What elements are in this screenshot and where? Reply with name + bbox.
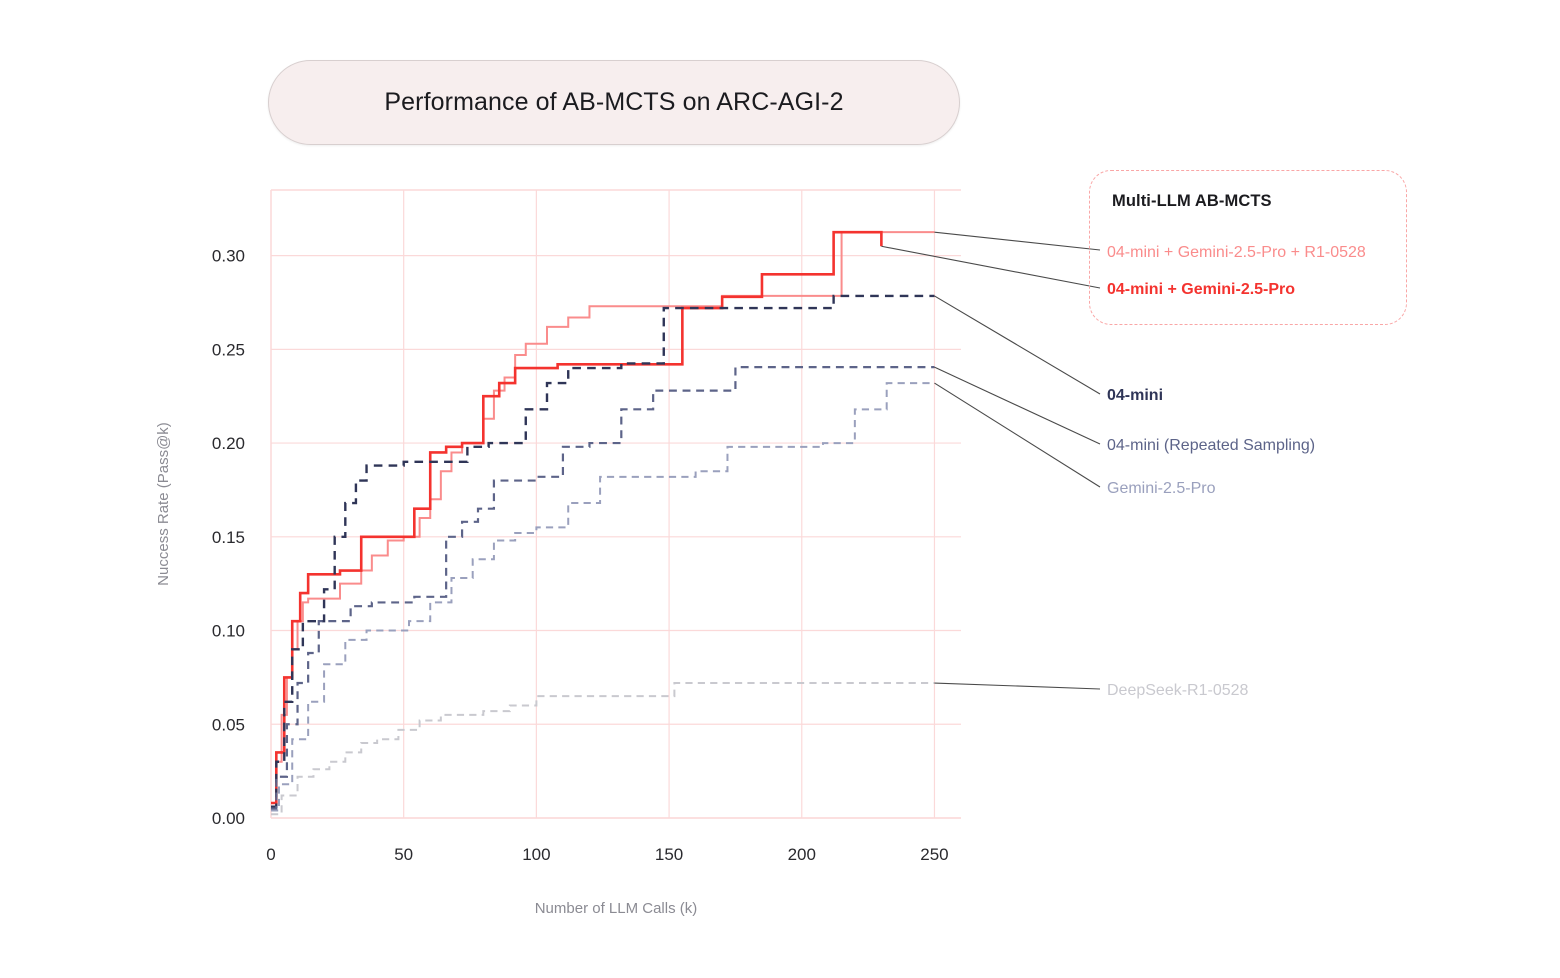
x-tick-label: 50: [394, 845, 413, 864]
x-tick-label: 100: [522, 845, 550, 864]
x-tick-label: 0: [266, 845, 275, 864]
x-tick-label: 250: [920, 845, 948, 864]
y-tick-label: 0.20: [212, 434, 245, 453]
chart-svg: 0.000.050.100.150.200.250.30050100150200…: [0, 0, 1560, 978]
leader-lines: [881, 232, 1100, 689]
y-tick-label: 0.00: [212, 809, 245, 828]
chart-canvas: Performance of AB-MCTS on ARC-AGI-2 0.00…: [0, 0, 1560, 978]
legend-header: Multi-LLM AB-MCTS: [1112, 192, 1272, 211]
callout-label-o4-mini[interactable]: 04-mini: [1107, 387, 1163, 405]
y-tick-label: 0.10: [212, 622, 245, 641]
series-line-04-mini: [271, 296, 934, 807]
leader-line-04-mini-gemini-2-5-pro-r1-0528: [934, 232, 1100, 250]
y-tick-label: 0.30: [212, 247, 245, 266]
legend-item-multi-llm-2[interactable]: 04-mini + Gemini-2.5-Pro: [1107, 281, 1295, 299]
leader-line-gemini-2-5-pro: [934, 383, 1100, 487]
x-axis-title: Number of LLM Calls (k): [535, 900, 698, 917]
callout-label-gemini-2-5-pro[interactable]: Gemini-2.5-Pro: [1107, 480, 1215, 498]
grid-layer: [271, 190, 961, 818]
x-tick-label: 150: [655, 845, 683, 864]
series-line-deepseek-r1-0528: [271, 683, 934, 814]
series-line-gemini-2-5-pro: [271, 383, 934, 810]
series-layer: [271, 232, 934, 814]
x-tick-label: 200: [788, 845, 816, 864]
leader-line-04-mini: [934, 296, 1100, 394]
legend-item-multi-llm-1[interactable]: 04-mini + Gemini-2.5-Pro + R1-0528: [1107, 244, 1366, 262]
leader-line-deepseek-r1-0528: [934, 683, 1100, 689]
series-line-04-mini-repeated-sampling: [271, 367, 934, 808]
callout-label-deepseek-r1-0528[interactable]: DeepSeek-R1-0528: [1107, 682, 1248, 700]
y-axis-title: Nuccess Rate (Pass@k): [155, 422, 172, 586]
callout-label-o4-mini-repeated-sampling[interactable]: 04-mini (Repeated Sampling): [1107, 437, 1315, 455]
y-tick-label: 0.05: [212, 715, 245, 734]
leader-line-04-mini-gemini-2-5-pro: [881, 246, 1100, 288]
y-tick-label: 0.25: [212, 340, 245, 359]
y-tick-label: 0.15: [212, 528, 245, 547]
tick-labels: 0.000.050.100.150.200.250.30050100150200…: [155, 247, 949, 917]
series-line-04-mini-gemini-2-5-pro-r1-0528: [271, 232, 934, 803]
